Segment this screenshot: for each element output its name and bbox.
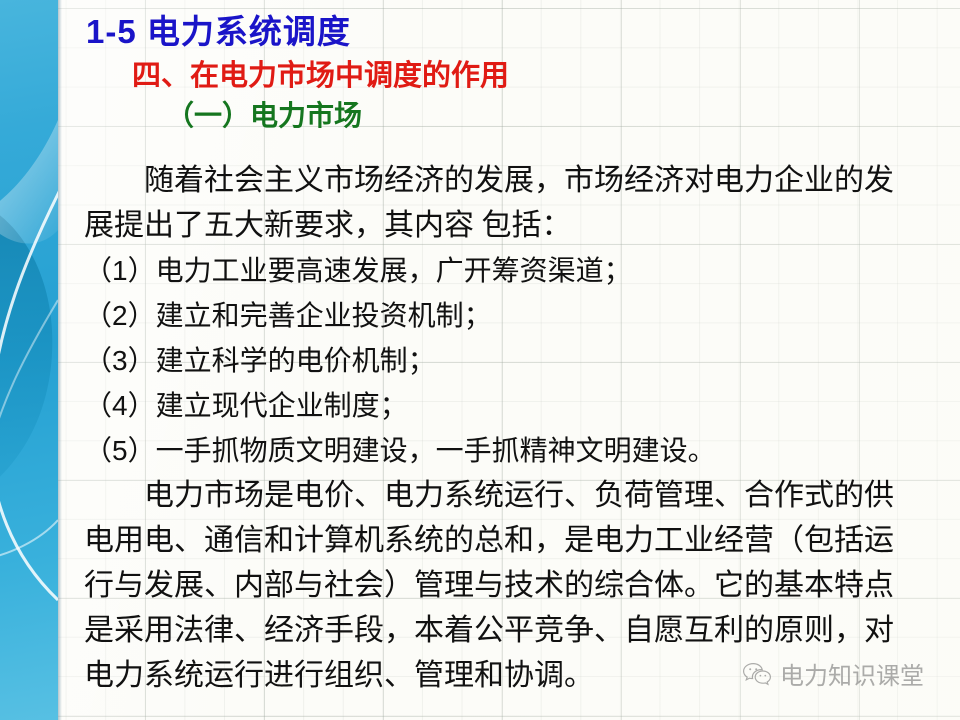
section-heading: 四、在电力市场中调度的作用 bbox=[132, 59, 509, 93]
paragraph-line: 电用电、通信和计算机系统的总和，是电力工业经营（包括运 bbox=[84, 518, 952, 563]
paragraph-line: 是采用法律、经济手段，本着公平竞争、自愿互利的原则，对 bbox=[84, 608, 952, 653]
list-item: （1）电力工业要高速发展，广开筹资渠道； bbox=[84, 248, 952, 293]
paragraph-line: 电力市场是电价、电力系统运行、负荷管理、合作式的供 bbox=[84, 473, 952, 518]
paragraph-line: 行与发展、内部与社会）管理与技术的综合体。它的基本特点 bbox=[84, 563, 952, 608]
list-item: （4）建立现代企业制度； bbox=[84, 383, 952, 428]
list-item: （5）一手抓物质文明建设，一手抓精神文明建设。 bbox=[84, 428, 952, 473]
page-title: 1-5 电力系统调度 bbox=[86, 13, 351, 51]
list-item: （2）建立和完善企业投资机制； bbox=[84, 293, 952, 338]
left-decorative-band bbox=[0, 0, 58, 720]
watermark-label: 电力知识课堂 bbox=[780, 663, 924, 691]
watermark: 电力知识课堂 bbox=[742, 662, 924, 691]
paragraph-line: 随着社会主义市场经济的发展，市场经济对电力企业的发 bbox=[84, 158, 952, 203]
slide-canvas: 1-5 电力系统调度 四、在电力市场中调度的作用 （一）电力市场 随着社会主义市… bbox=[0, 0, 960, 720]
slide-body: 随着社会主义市场经济的发展，市场经济对电力企业的发 展提出了五大新要求，其内容 … bbox=[84, 158, 952, 698]
sidebar-edge-shadow bbox=[58, 0, 62, 720]
wechat-icon bbox=[742, 662, 772, 691]
paragraph-line: 展提出了五大新要求，其内容 包括： bbox=[84, 203, 952, 248]
swirl-light-shape bbox=[0, 120, 58, 244]
subsection-heading: （一）电力市场 bbox=[166, 99, 362, 132]
list-item: （3）建立科学的电价机制； bbox=[84, 338, 952, 383]
swirl-dark-shape bbox=[0, 200, 52, 500]
